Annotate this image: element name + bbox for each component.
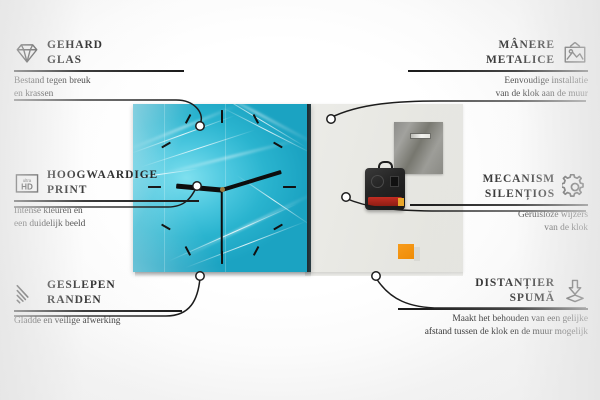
beveled-edges-icon	[14, 280, 40, 306]
feature-divider	[14, 310, 182, 311]
hour-tick	[253, 246, 259, 256]
minute-hand	[221, 170, 282, 192]
svg-text:HD: HD	[21, 182, 33, 191]
clock-drop-shadow	[135, 272, 311, 277]
hanger-slot	[410, 133, 431, 139]
feature-title: MECANISM SILENȚIOS	[483, 172, 555, 201]
second-hand	[221, 190, 223, 256]
metal-hanger-plate	[394, 122, 443, 174]
feature-title: MÂNERE METALICE	[486, 38, 555, 67]
hour-tick	[283, 186, 296, 188]
feature-title: GEHARD GLAS	[47, 38, 103, 67]
feature-description: Geruisloze wijzers van de klok	[410, 209, 588, 235]
ultra-hd-icon: ultra HD	[14, 170, 40, 196]
feature-divider	[410, 204, 588, 205]
diamond-icon	[14, 40, 40, 66]
feature-divider	[408, 70, 588, 71]
feature-title: HOOGWAARDIGE PRINT	[47, 168, 158, 197]
feature-manere-metalice: MÂNERE METALICE Eenvoudige installatie v…	[408, 38, 588, 101]
foam-spacer	[398, 244, 414, 259]
feature-title: GESLEPEN RANDEN	[47, 278, 116, 307]
battery	[368, 197, 402, 206]
feature-geslepen-randen: GESLEPEN RANDEN Gladde en veilige afwerk…	[14, 278, 189, 328]
feature-description: Intense kleuren en een duidelijk beeld	[14, 205, 199, 231]
feature-divider	[14, 200, 199, 201]
feature-mecanism-silentios: MECANISM SILENȚIOS Geruisloze wijzers va…	[410, 172, 588, 235]
feature-hoogwaardige-print: ultra HD HOOGWAARDIGE PRINT Intense kleu…	[14, 168, 199, 231]
feature-distantier-spuma: DISTANȚIER SPUMĂ Maakt het behouden van …	[398, 276, 588, 339]
battery-terminal	[398, 198, 404, 206]
movement-dial	[371, 175, 384, 188]
feature-title: DISTANȚIER SPUMĂ	[475, 276, 555, 305]
feature-description: Eenvoudige installatie van de klok aan d…	[408, 75, 588, 101]
hour-tick	[221, 110, 223, 123]
feature-divider	[14, 70, 184, 71]
movement-chip	[390, 176, 399, 187]
wall-hanger-icon	[562, 40, 588, 66]
infographic-stage: GEHARD GLAS Bestand tegen breuk en krass…	[0, 0, 600, 400]
feature-divider	[398, 308, 588, 309]
feature-description: Gladde en veilige afwerking	[14, 315, 189, 328]
feature-description: Maakt het behouden van een gelijke afsta…	[398, 313, 588, 339]
gear-icon	[562, 174, 588, 200]
foam-spacer-shadow	[414, 247, 420, 261]
feature-description: Bestand tegen breuk en krassen	[14, 75, 189, 101]
foam-spacer-icon	[562, 278, 588, 304]
feature-gehard-glas: GEHARD GLAS Bestand tegen breuk en krass…	[14, 38, 189, 101]
hand-center-cap	[220, 187, 225, 192]
clock-movement	[365, 168, 405, 210]
clock-beveled-edge	[307, 104, 311, 272]
